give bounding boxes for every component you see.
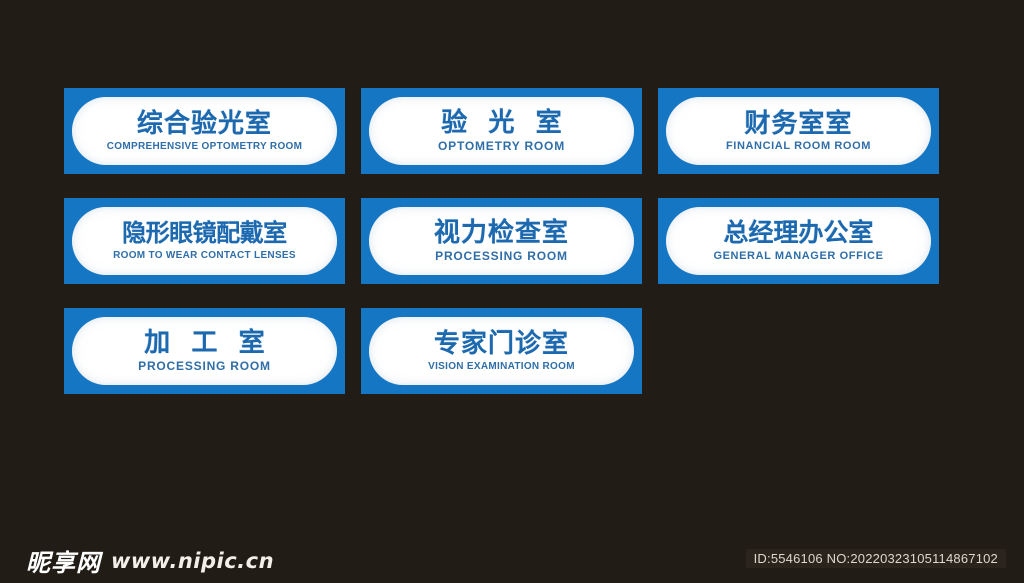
sign-plate: 综合验光室 COMPREHENSIVE OPTOMETRY ROOM (72, 97, 337, 165)
sign-comprehensive-optometry-room[interactable]: 综合验光室 COMPREHENSIVE OPTOMETRY ROOM (64, 88, 345, 174)
sign-chinese-label: 视力检查室 (434, 219, 569, 246)
nipic-logo: 昵享网 (26, 543, 101, 578)
sign-optometry-room[interactable]: 验 光 室 OPTOMETRY ROOM (361, 88, 642, 174)
sign-plate: 加 工 室 PROCESSING ROOM (72, 317, 337, 385)
sign-chinese-label: 隐形眼镜配戴室 (122, 221, 287, 246)
sign-processing-room-vision[interactable]: 视力检查室 PROCESSING ROOM (361, 198, 642, 284)
sign-plate: 隐形眼镜配戴室 ROOM TO WEAR CONTACT LENSES (72, 207, 337, 275)
sign-general-manager-office[interactable]: 总经理办公室 GENERAL MANAGER OFFICE (658, 198, 939, 284)
sign-plate: 总经理办公室 GENERAL MANAGER OFFICE (666, 207, 931, 275)
sign-plate: 财务室室 FINANCIAL ROOM ROOM (666, 97, 931, 165)
sign-chinese-label: 财务室室 (744, 110, 852, 137)
footer-bar: 昵享网 www.nipic.cn ID:5546106 NO:202203231… (0, 535, 1024, 583)
sign-chinese-label: 综合验光室 (137, 110, 272, 137)
sign-plate: 视力检查室 PROCESSING ROOM (369, 207, 634, 275)
sign-processing-room[interactable]: 加 工 室 PROCESSING ROOM (64, 308, 345, 394)
sign-english-label: GENERAL MANAGER OFFICE (713, 250, 883, 262)
sign-plate: 验 光 室 OPTOMETRY ROOM (369, 97, 634, 165)
image-id-label: ID:5546106 NO:20220323105114867102 (746, 549, 1006, 568)
sign-english-label: VISION EXAMINATION ROOM (428, 361, 575, 372)
sign-english-label: OPTOMETRY ROOM (438, 140, 565, 153)
sign-vision-examination-room[interactable]: 专家门诊室 VISION EXAMINATION ROOM (361, 308, 642, 394)
sign-chinese-label: 专家门诊室 (434, 330, 569, 357)
sign-english-label: COMPREHENSIVE OPTOMETRY ROOM (107, 141, 302, 152)
sign-chinese-label: 加 工 室 (137, 329, 271, 356)
sign-room-to-wear-contact-lenses[interactable]: 隐形眼镜配戴室 ROOM TO WEAR CONTACT LENSES (64, 198, 345, 284)
sign-board-grid: 综合验光室 COMPREHENSIVE OPTOMETRY ROOM 验 光 室… (64, 88, 942, 394)
sign-english-label: ROOM TO WEAR CONTACT LENSES (113, 250, 296, 261)
sign-chinese-label: 验 光 室 (434, 109, 568, 136)
watermark: 昵享网 www.nipic.cn (26, 543, 274, 578)
sign-english-label: PROCESSING ROOM (435, 250, 568, 263)
sign-plate: 专家门诊室 VISION EXAMINATION ROOM (369, 317, 634, 385)
sign-english-label: PROCESSING ROOM (138, 360, 271, 373)
watermark-url: www.nipic.cn (111, 549, 274, 573)
sign-english-label: FINANCIAL ROOM ROOM (726, 140, 871, 152)
sign-financial-room-room[interactable]: 财务室室 FINANCIAL ROOM ROOM (658, 88, 939, 174)
sign-chinese-label: 总经理办公室 (723, 220, 873, 246)
